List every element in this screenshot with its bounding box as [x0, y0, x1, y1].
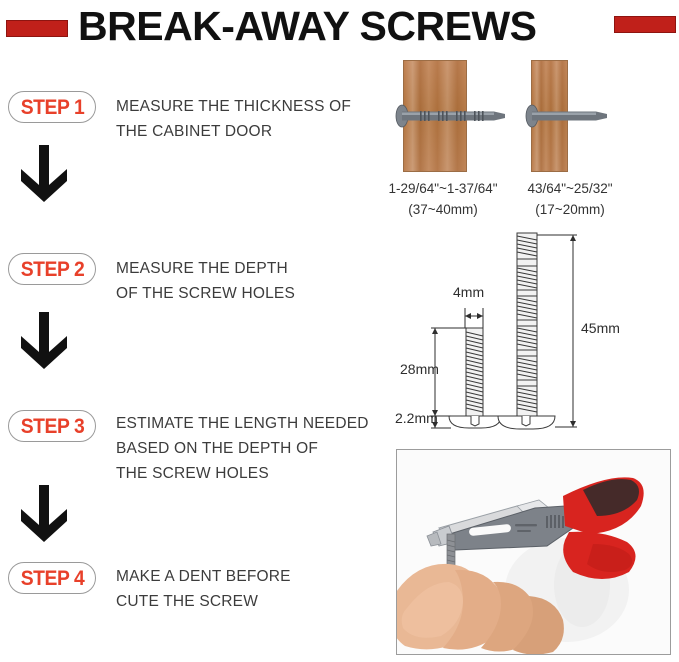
step-4-line-2: CUTE THE SCREW: [116, 589, 291, 614]
title-dash-left: [6, 20, 68, 37]
step-1-line-1: MEASURE THE THICKNESS OF: [116, 94, 351, 119]
step-badge-3-label: STEP 3: [20, 416, 83, 437]
thin-door-inches: 43/64"~25/32": [495, 178, 645, 199]
down-arrow-icon: [16, 143, 72, 205]
screw-dimension-figure: 4mm 28mm 2.2mm 45mm: [405, 228, 675, 433]
screw-through-thick-plank-icon: [390, 104, 510, 128]
screw-through-thin-plank-icon: [520, 104, 620, 128]
step-badge-3: STEP 3: [8, 410, 96, 442]
down-arrow-1: [16, 143, 72, 205]
step-1-line-2: THE CABINET DOOR: [116, 119, 351, 144]
step-4-line-1: MAKE A DENT BEFORE: [116, 564, 291, 589]
screw-dimension-drawing: [405, 228, 675, 433]
thin-door-measurement: 43/64"~25/32" (17~20mm): [495, 178, 645, 220]
short-screw-head-label: 2.2mm: [395, 410, 438, 426]
step-3-line-2: BASED ON THE DEPTH OF: [116, 436, 369, 461]
title-dash-right: [614, 16, 676, 33]
step-badge-2: STEP 2: [8, 253, 96, 285]
step-badge-1-label: STEP 1: [20, 97, 83, 118]
door-thickness-figure: 1-29/64"~1-37/64" (37~40mm) 43/64"~25/32…: [400, 60, 670, 220]
step-2-text: MEASURE THE DEPTH OF THE SCREW HOLES: [116, 256, 295, 306]
step-badge-1: STEP 1: [8, 91, 96, 123]
step-1-text: MEASURE THE THICKNESS OF THE CABINET DOO…: [116, 94, 351, 144]
pliers-screw-illustration: [397, 450, 670, 654]
page-header: BREAK-AWAY SCREWS: [0, 0, 679, 52]
down-arrow-icon: [16, 310, 72, 372]
step-3-line-1: ESTIMATE THE LENGTH NEEDED: [116, 411, 369, 436]
step-4-text: MAKE A DENT BEFORE CUTE THE SCREW: [116, 564, 291, 614]
thin-door-mm: (17~20mm): [495, 199, 645, 220]
step-badge-4: STEP 4: [8, 562, 96, 594]
long-screw-length-label: 45mm: [581, 320, 620, 336]
short-screw-length-label: 28mm: [400, 361, 439, 377]
step-2-line-1: MEASURE THE DEPTH: [116, 256, 295, 281]
down-arrow-2: [16, 310, 72, 372]
pliers-screw-photo: [396, 449, 671, 655]
page-title: BREAK-AWAY SCREWS: [78, 6, 537, 47]
step-3-text: ESTIMATE THE LENGTH NEEDED BASED ON THE …: [116, 411, 369, 486]
step-2-line-2: OF THE SCREW HOLES: [116, 281, 295, 306]
step-badge-4-label: STEP 4: [20, 568, 83, 589]
short-screw-width-label: 4mm: [453, 284, 484, 300]
step-badge-2-label: STEP 2: [20, 259, 83, 280]
down-arrow-3: [16, 483, 72, 545]
down-arrow-icon: [16, 483, 72, 545]
step-3-line-3: THE SCREW HOLES: [116, 461, 369, 486]
